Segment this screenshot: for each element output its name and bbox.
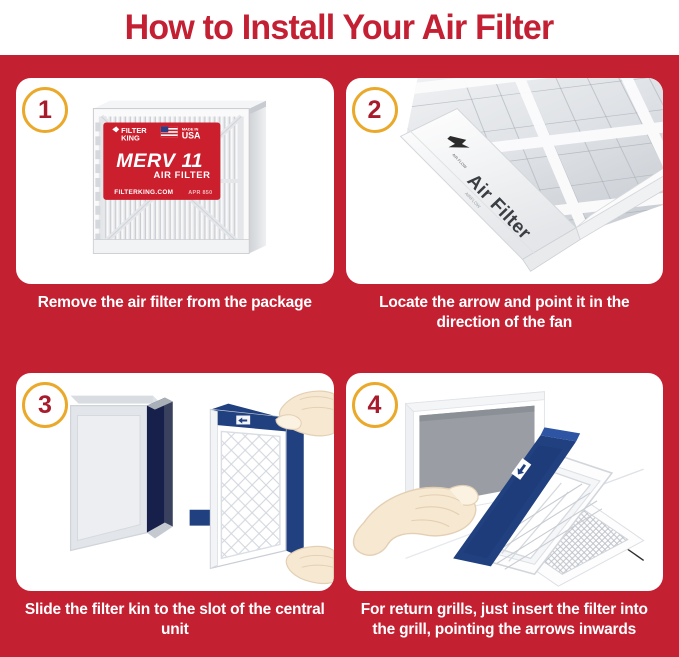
- step-3-card: 3: [16, 373, 334, 591]
- step-4-badge: 4: [352, 382, 398, 428]
- usa-text: USA: [182, 130, 201, 140]
- air-filter-subtitle: AIR FILTER: [153, 169, 210, 180]
- hand-bottom: [286, 546, 333, 583]
- step-4: 4 For return grills, just insert the fil…: [346, 350, 664, 657]
- step-1-badge: 1: [22, 87, 68, 133]
- apr-rating-text: APR 850: [188, 190, 212, 196]
- step-2-badge: 2: [352, 87, 398, 133]
- step-1-card: FILTER KING MADE IN: [16, 78, 334, 284]
- steps-grid: FILTER KING MADE IN: [0, 55, 679, 657]
- step-2-caption: Locate the arrow and point it in the dir…: [346, 284, 664, 333]
- step-4-card: 4: [346, 373, 664, 591]
- step-4-caption: For return grills, just insert the filte…: [346, 591, 664, 640]
- infographic-page: How to Install Your Air Filter: [0, 0, 679, 657]
- step-2: AIR FLOW Air Filter AIRFLOW 2 Locate the…: [346, 55, 664, 350]
- page-title: How to Install Your Air Filter: [125, 8, 554, 48]
- header-band: How to Install Your Air Filter: [0, 0, 679, 55]
- step-3-caption: Slide the filter kin to the slot of the …: [16, 591, 334, 640]
- step-1: FILTER KING MADE IN: [16, 55, 334, 350]
- step-2-card: AIR FLOW Air Filter AIRFLOW 2: [346, 78, 664, 284]
- brand-line-2: KING: [121, 133, 140, 142]
- website-text: FILTERKING.COM: [114, 189, 173, 196]
- step-3: 3 Slide the filter kin to the slot of th…: [16, 350, 334, 657]
- step-3-badge: 3: [22, 382, 68, 428]
- step-1-caption: Remove the air filter from the package: [16, 284, 334, 313]
